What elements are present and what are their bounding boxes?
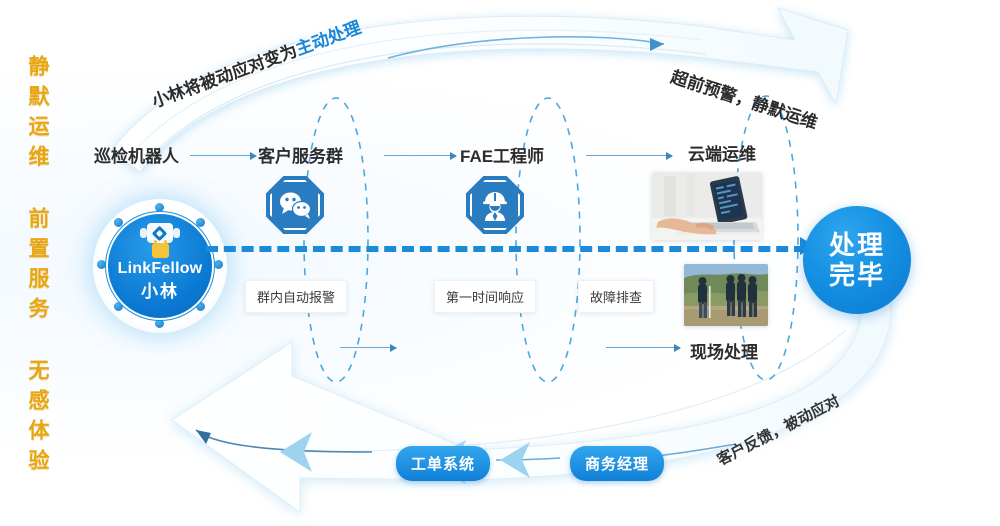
stage-label-fae-engineer: FAE工程师 xyxy=(460,142,544,167)
top-band-arrow xyxy=(388,37,664,58)
bottom-band-arrow-1 xyxy=(196,430,372,472)
engineer-helmet-icon[interactable] xyxy=(466,176,524,234)
bottom-arc-ribbon xyxy=(172,296,891,512)
pill-ticket-system[interactable]: 工单系统 xyxy=(396,446,490,481)
connector-arrow-lower-2 xyxy=(606,347,680,348)
robot-icon xyxy=(140,223,180,259)
bottom-band-arrow-2 xyxy=(496,442,560,478)
stage-label-cloud-ops: 云端运维 xyxy=(688,140,756,165)
connector-arrow-2 xyxy=(384,155,456,156)
diagram-canvas: 静默运维 前置服务 无感体验 LinkFellow 小林 小林将被动应对变为主动… xyxy=(0,0,1000,526)
stage-divider-2 xyxy=(516,98,580,382)
result-circle[interactable]: 处理 完毕 xyxy=(803,206,911,314)
pill-business-manager[interactable]: 商务经理 xyxy=(570,446,664,481)
arc-top-left-highlight: 主动处理 xyxy=(293,18,363,59)
engineer-glyph xyxy=(479,189,511,221)
stage-sub-troubleshoot: 故障排查 xyxy=(578,280,654,313)
stage-label-service-group: 客户服务群 xyxy=(258,142,343,167)
vertical-slogan: 静默运维 前置服务 无感体验 xyxy=(14,55,60,479)
stage-sub-service-group: 群内自动报警 xyxy=(245,280,347,313)
result-line-2: 完毕 xyxy=(829,260,885,290)
arc-text-top-right: 超前预警，静默运维 xyxy=(668,63,821,134)
connector-arrow-3 xyxy=(586,155,672,156)
logo-cn-name: 小林 xyxy=(141,277,179,302)
stage-label-inspection-robot: 巡检机器人 xyxy=(94,142,179,167)
logo-inner-disc: LinkFellow 小林 xyxy=(108,214,212,318)
connector-arrow-lower-1 xyxy=(340,347,396,348)
laptop-photo xyxy=(652,172,762,240)
connector-arrow-1 xyxy=(190,155,256,156)
wechat-icon[interactable] xyxy=(266,176,324,234)
arc-top-left-prefix: 小林将被动应对变为 xyxy=(149,41,299,111)
stage-label-onsite: 现场处理 xyxy=(690,338,758,363)
main-flow-dashed-line xyxy=(206,246,806,252)
result-line-1: 处理 xyxy=(829,230,885,260)
stage-divider-1 xyxy=(304,98,368,382)
logo-en-name: LinkFellow xyxy=(118,260,203,278)
linkfellow-logo[interactable]: LinkFellow 小林 xyxy=(92,198,228,334)
arc-text-bottom-right: 客户反馈，被动应对 xyxy=(713,390,843,470)
wechat-glyph xyxy=(278,191,312,219)
arc-text-top-left: 小林将被动应对变为主动处理 xyxy=(148,13,364,112)
field-team-photo xyxy=(684,264,768,326)
stage-sub-fae-engineer: 第一时间响应 xyxy=(434,280,536,313)
